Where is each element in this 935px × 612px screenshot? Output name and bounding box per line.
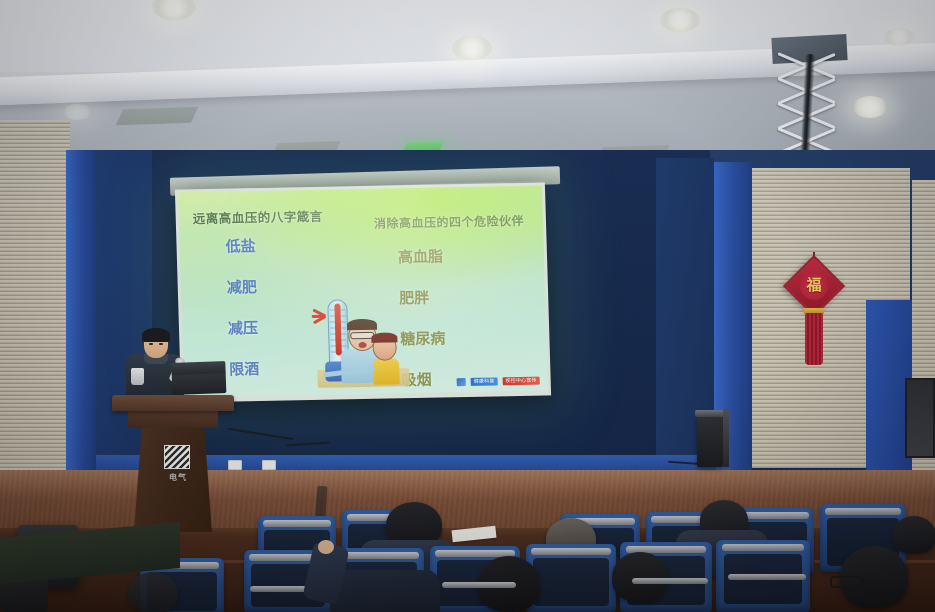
wall-mounted-board	[905, 378, 935, 458]
audience-hand	[318, 540, 334, 554]
thermometer-alert-icon	[311, 308, 327, 324]
ceiling-downlight	[660, 8, 700, 32]
seat-headrest-trim	[531, 548, 610, 555]
projection-screen: 远离高血压的八字箴言 消除高血压的四个危险伙伴 低盐 减肥 减压 限酒 高血脂 …	[175, 182, 551, 402]
presenter-laptop	[172, 371, 227, 395]
audience-head	[892, 516, 935, 554]
slide-left-item: 限酒	[229, 358, 260, 380]
wall-outlet	[262, 460, 276, 470]
slide-left-column: 低盐 减肥 减压 限酒	[225, 235, 259, 380]
fu-character-glyph: 福	[800, 273, 828, 299]
company-stripe-logo-icon	[164, 445, 190, 469]
audience-head	[128, 572, 178, 612]
seat-headrest-trim	[825, 508, 901, 515]
bin-side-post	[723, 409, 729, 467]
seat-headrest-trim	[341, 552, 418, 559]
podium-neck	[128, 410, 218, 428]
knot-tassel	[805, 313, 823, 365]
slide-footer-logos: 健康科普 疾控中心宣传	[457, 377, 540, 387]
acoustic-wall-panel	[0, 120, 70, 480]
seat-headrest-trim	[263, 520, 332, 527]
seat-armrest	[632, 578, 708, 584]
slide-logo-blue: 健康科普	[471, 377, 498, 386]
ceiling-downlight	[62, 104, 92, 120]
seat-armrest	[728, 574, 806, 580]
seat-armrest	[442, 582, 516, 588]
water-cup	[131, 368, 144, 385]
audience-seating	[0, 500, 935, 612]
slide-title-right: 消除高血压的四个危险伙伴	[374, 212, 525, 232]
audience-glasses-icon	[830, 576, 864, 588]
slide-logo-mark-icon	[457, 378, 466, 386]
cartoon-child-body	[373, 358, 400, 384]
slide-left-item: 减肥	[226, 276, 257, 298]
podium-desktop	[112, 395, 234, 411]
slide-left-item: 低盐	[225, 235, 256, 257]
floor-trash-bin	[697, 415, 723, 467]
bin-lid	[695, 410, 725, 417]
cartoon-child-hair	[371, 332, 397, 342]
slide-thermometer-cartoon	[301, 296, 412, 390]
presenter-eye	[159, 343, 163, 345]
ceiling-downlight	[884, 28, 914, 46]
presenter-eye	[149, 343, 153, 345]
ceiling-vent	[116, 107, 198, 126]
slide-left-item: 减压	[228, 317, 259, 339]
chinese-knot-decoration: 福	[786, 252, 842, 372]
presenter-hair	[142, 328, 170, 342]
auditorium-photo-scene: 远离高血压的八字箴言 消除高血压的四个危险伙伴 低盐 减肥 减压 限酒 高血脂 …	[0, 0, 935, 612]
seat-cushion	[533, 558, 609, 606]
podium-brand-text: 电气	[152, 472, 204, 483]
laptop-screen	[171, 361, 225, 375]
seat-headrest-trim	[722, 544, 805, 551]
ceiling-downlight	[852, 96, 888, 118]
audience-shoulders	[330, 570, 440, 612]
slide-right-item: 高血脂	[398, 245, 444, 267]
slide-logo-red: 疾控中心宣传	[502, 377, 539, 386]
cartoon-person-hair	[347, 319, 377, 331]
audience-head	[612, 552, 668, 602]
wall-blue-column	[66, 150, 96, 480]
audience-paper	[451, 526, 496, 543]
presentation-slide: 远离高血压的八字箴言 消除高血压的四个危险伙伴 低盐 减肥 减压 限酒 高血脂 …	[178, 186, 548, 398]
wall-outlet	[228, 460, 242, 470]
ceiling-downlight	[452, 36, 492, 60]
slide-title-left: 远离高血压的八字箴言	[192, 206, 323, 227]
